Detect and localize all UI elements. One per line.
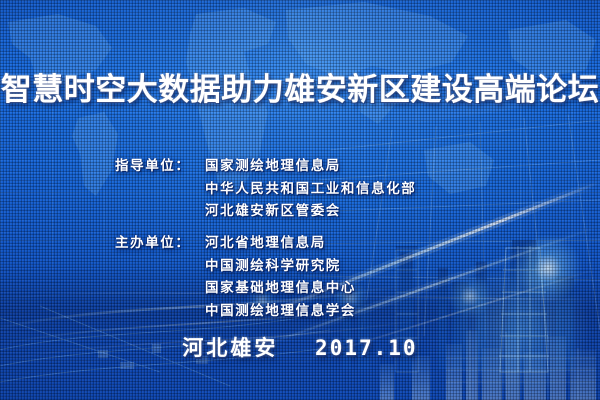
list-item: 主办单位： 国家基础地理信息中心 [115, 277, 356, 300]
venue-place: 河北雄安 [182, 336, 278, 360]
page-title: 智慧时空大数据助力雄安新区建设高端论坛 [0, 70, 600, 110]
list-item: 主办单位： 中国测绘地理信息学会 [115, 300, 356, 323]
list-item: 主办单位： 河北省地理信息局 [115, 232, 356, 255]
host-unit: 中国测绘地理信息学会 [205, 300, 356, 323]
host-unit: 国家基础地理信息中心 [205, 277, 356, 300]
host-unit: 中国测绘科学研究院 [205, 255, 341, 278]
guidance-label: 指导单位： [115, 155, 205, 178]
guidance-unit: 河北雄安新区管委会 [205, 200, 341, 223]
host-units-block: 主办单位： 河北省地理信息局 主办单位： 中国测绘科学研究院 主办单位： 国家基… [115, 232, 356, 322]
venue-and-date: 河北雄安 2017.10 [0, 332, 600, 362]
forum-banner-screen: 智慧时空大数据助力雄安新区建设高端论坛 指导单位： 国家测绘地理信息局 指导单位… [0, 0, 600, 400]
guidance-units-block: 指导单位： 国家测绘地理信息局 指导单位： 中华人民共和国工业和信息化部 指导单… [115, 155, 416, 223]
banner-content: 智慧时空大数据助力雄安新区建设高端论坛 指导单位： 国家测绘地理信息局 指导单位… [0, 0, 600, 400]
list-item: 指导单位： 河北雄安新区管委会 [115, 200, 416, 223]
host-label: 主办单位： [115, 232, 205, 255]
guidance-unit: 国家测绘地理信息局 [205, 155, 341, 178]
list-item: 指导单位： 国家测绘地理信息局 [115, 155, 416, 178]
venue-date: 2017.10 [315, 336, 418, 360]
list-item: 主办单位： 中国测绘科学研究院 [115, 255, 356, 278]
host-unit: 河北省地理信息局 [205, 232, 326, 255]
list-item: 指导单位： 中华人民共和国工业和信息化部 [115, 178, 416, 201]
guidance-unit: 中华人民共和国工业和信息化部 [205, 178, 416, 201]
